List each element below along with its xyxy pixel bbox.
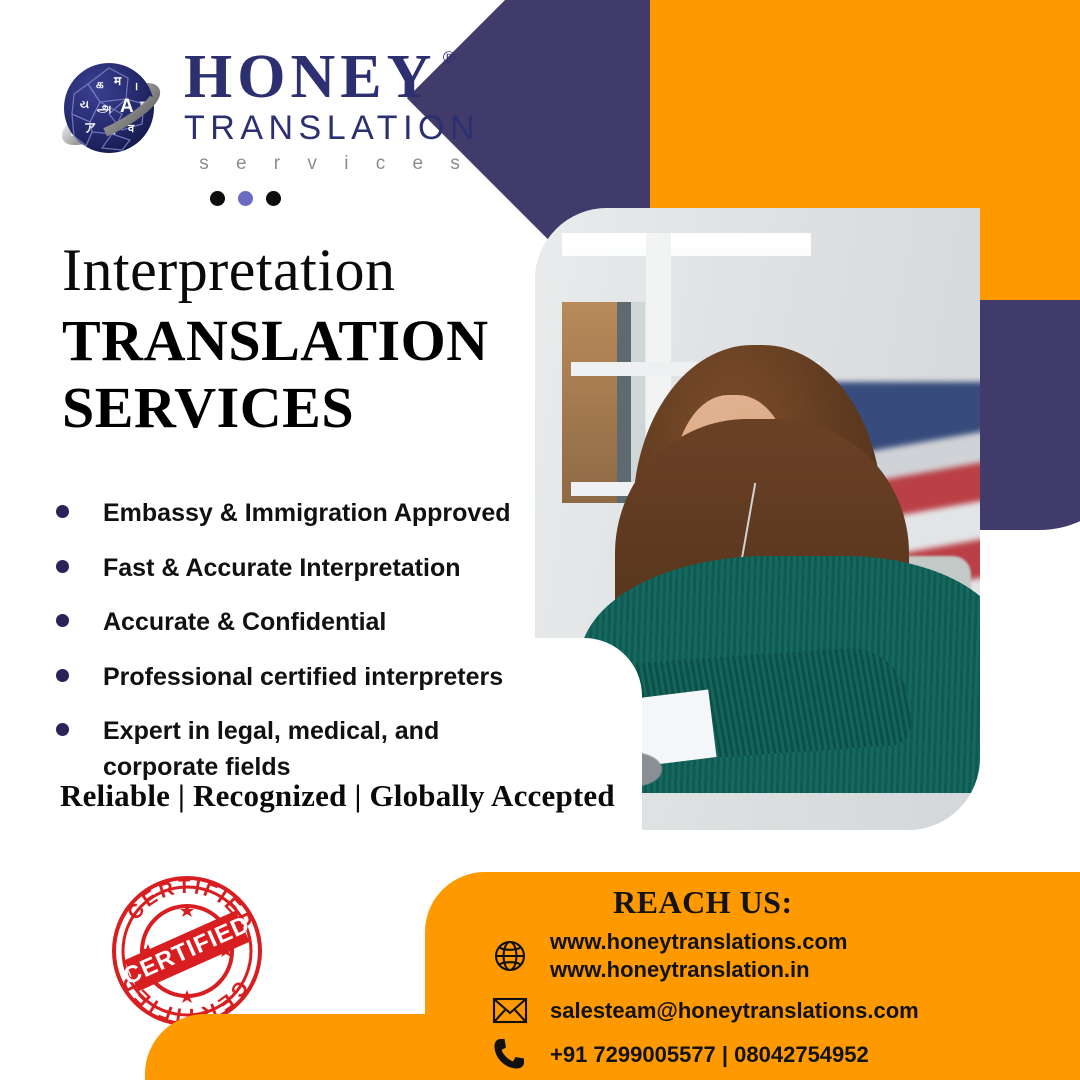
bullet-dot-icon	[56, 505, 69, 518]
globe-icon	[492, 938, 534, 974]
list-item: Accurate & Confidential	[56, 605, 526, 641]
logo-wordmark: HONEY ® TRANSLATION s e r v i c e s	[184, 48, 480, 175]
website-labels: www.honeytranslations.com www.honeytrans…	[550, 928, 847, 983]
list-item: Fast & Accurate Interpretation	[56, 551, 526, 587]
svg-text:।: ।	[134, 81, 138, 93]
list-item-label: Professional certified interpreters	[103, 660, 503, 696]
envelope-icon	[492, 995, 534, 1025]
list-item-label: Embassy & Immigration Approved	[103, 496, 511, 532]
logo-name: HONEY	[184, 43, 436, 111]
contact-details: www.honeytranslations.com www.honeytrans…	[492, 928, 1052, 1080]
bullet-dot-icon	[56, 614, 69, 627]
website-1: www.honeytranslations.com	[550, 929, 847, 954]
contact-panel-notch	[425, 1014, 487, 1076]
decorative-dots	[210, 191, 281, 206]
list-item-label: Expert in legal, medical, and corporate …	[103, 714, 526, 785]
features-list: Embassy & Immigration Approved Fast & Ac…	[56, 496, 526, 804]
headline-line-1: TRANSLATION	[62, 307, 489, 374]
svg-text:ア: ア	[84, 121, 96, 135]
dot-1	[210, 191, 225, 206]
brand-logo: க म । ય அ A ह ア ଲ व HONEY ® TRANSLATION	[52, 48, 480, 175]
svg-text:म: म	[113, 74, 122, 88]
globe-languages-icon: க म । ય அ A ह ア ଲ व	[52, 52, 170, 170]
svg-text:க: க	[96, 77, 104, 91]
bullet-dot-icon	[56, 723, 69, 736]
kicker-heading: Interpretation	[62, 236, 396, 305]
dot-2	[238, 191, 253, 206]
list-item: Expert in legal, medical, and corporate …	[56, 714, 526, 785]
registered-mark: ®	[443, 50, 461, 66]
phone-label: +91 7299005577 | 08042754952	[550, 1041, 869, 1069]
logo-services-label: s e r v i c e s	[184, 153, 480, 175]
svg-text:அ: அ	[97, 100, 111, 115]
svg-text:ય: ય	[80, 99, 89, 111]
contact-row-email[interactable]: salesteam@honeytranslations.com	[492, 995, 1052, 1025]
interpreter-photo	[535, 208, 980, 830]
tagline: Reliable | Recognized | Globally Accepte…	[60, 778, 615, 814]
list-item-label: Fast & Accurate Interpretation	[103, 551, 460, 587]
list-item: Embassy & Immigration Approved	[56, 496, 526, 532]
contact-row-website[interactable]: www.honeytranslations.com www.honeytrans…	[492, 928, 1052, 983]
bullet-dot-icon	[56, 669, 69, 682]
list-item: Professional certified interpreters	[56, 660, 526, 696]
dot-3	[266, 191, 281, 206]
certified-stamp-icon: CERTIFIED CERTIFIED CERTIFIED	[108, 872, 266, 1030]
headline-line-2: SERVICES	[62, 374, 489, 441]
website-2: www.honeytranslation.in	[550, 957, 810, 982]
logo-subtitle: TRANSLATION	[184, 109, 480, 148]
email-label: salesteam@honeytranslations.com	[550, 997, 919, 1025]
contact-row-phone[interactable]: +91 7299005577 | 08042754952	[492, 1037, 1052, 1071]
poster-canvas: க म । ય அ A ह ア ଲ व HONEY ® TRANSLATION	[0, 0, 1080, 1080]
main-headline: TRANSLATION SERVICES	[62, 307, 489, 442]
bullet-dot-icon	[56, 560, 69, 573]
list-item-label: Accurate & Confidential	[103, 605, 386, 641]
phone-icon	[492, 1037, 534, 1071]
contact-title: REACH US:	[613, 884, 793, 921]
